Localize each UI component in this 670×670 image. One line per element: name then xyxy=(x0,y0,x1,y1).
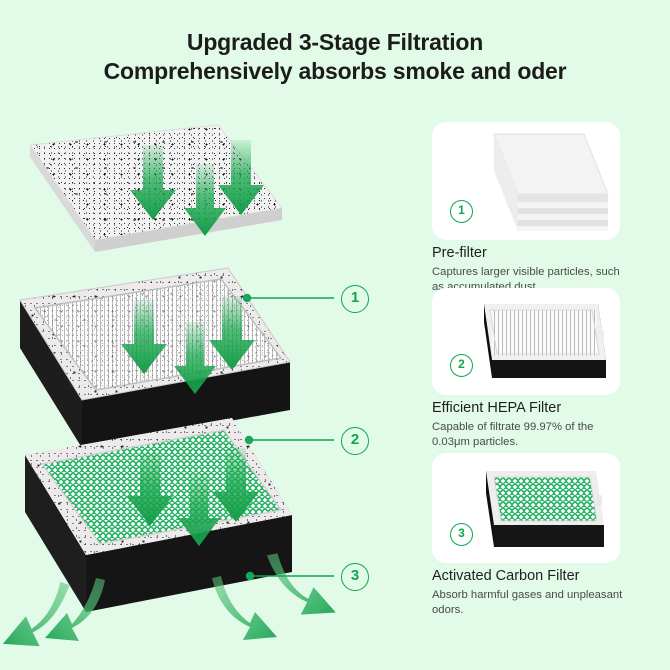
card-title-1: Pre-filter xyxy=(432,245,487,261)
callout-badge-2[interactable]: 2 xyxy=(341,427,369,455)
card-title-2: Efficient HEPA Filter xyxy=(432,400,561,416)
card-badge-2: 2 xyxy=(450,354,473,377)
card-carbon-filter[interactable]: 3 xyxy=(432,453,620,563)
card-pre-filter[interactable]: 1 xyxy=(432,122,620,240)
hepa-block-icon xyxy=(432,288,620,395)
card-desc-2: Capable of filtrate 99.97% of the 0.03μm… xyxy=(432,420,632,450)
diagram-svg xyxy=(0,100,400,660)
callout-badge-3[interactable]: 3 xyxy=(341,563,369,591)
page-title: Upgraded 3-Stage Filtration Comprehensiv… xyxy=(0,28,670,86)
lead-dot-2 xyxy=(245,436,253,444)
card-badge-3: 3 xyxy=(450,523,473,546)
card-badge-1: 1 xyxy=(450,200,473,223)
title-line-1: Upgraded 3-Stage Filtration xyxy=(0,28,670,57)
card-desc-3: Absorb harmful gases and unpleasant odor… xyxy=(432,588,632,618)
lead-dot-3 xyxy=(246,572,254,580)
callout-badge-1[interactable]: 1 xyxy=(341,285,369,313)
title-line-2: Comprehensively absorbs smoke and oder xyxy=(0,57,670,86)
filtration-diagram: 1 2 3 xyxy=(0,100,400,660)
card-title-3: Activated Carbon Filter xyxy=(432,568,579,584)
lead-dot-1 xyxy=(243,294,251,302)
card-hepa-filter[interactable]: 2 xyxy=(432,288,620,395)
carbon-block-icon xyxy=(432,453,620,563)
